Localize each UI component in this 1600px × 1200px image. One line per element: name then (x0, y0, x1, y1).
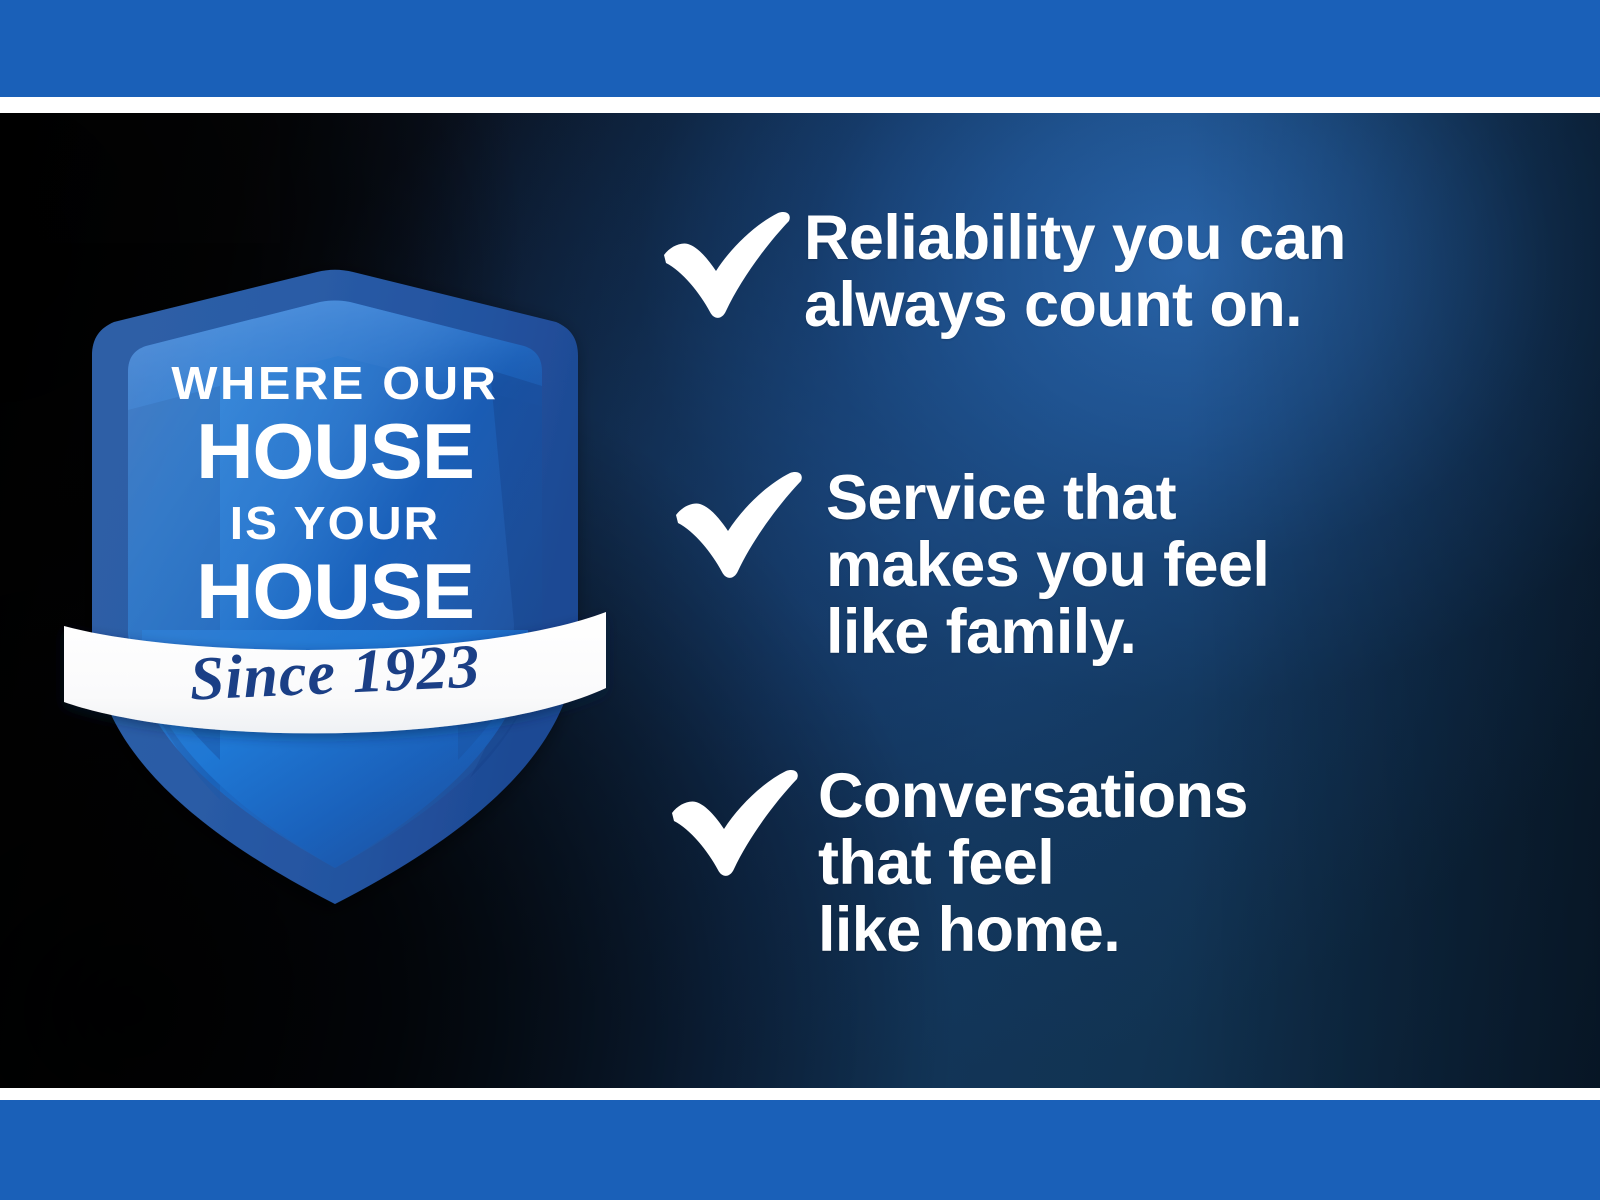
list-item-label: Conversations that feel like home. (818, 763, 1248, 963)
checkmark-icon (660, 211, 792, 321)
bottom-brand-bar (0, 1100, 1600, 1200)
list-item-label: Service that makes you feel like family. (826, 465, 1269, 665)
checkmark-icon (672, 471, 804, 581)
list-item: Service that makes you feel like family. (672, 465, 1269, 665)
checkmark-icon (668, 769, 800, 879)
promotional-graphic: Where Our House Is Your House Since 1923… (0, 0, 1600, 1200)
list-item: Conversations that feel like home. (668, 763, 1248, 963)
value-proposition-list: Reliability you can always count on. Ser… (660, 113, 1480, 1088)
list-item-label: Reliability you can always count on. (804, 205, 1346, 339)
top-brand-bar (0, 0, 1600, 97)
shield-badge: Where Our House Is Your House Since 1923 (70, 160, 600, 800)
list-item: Reliability you can always count on. (660, 205, 1346, 339)
